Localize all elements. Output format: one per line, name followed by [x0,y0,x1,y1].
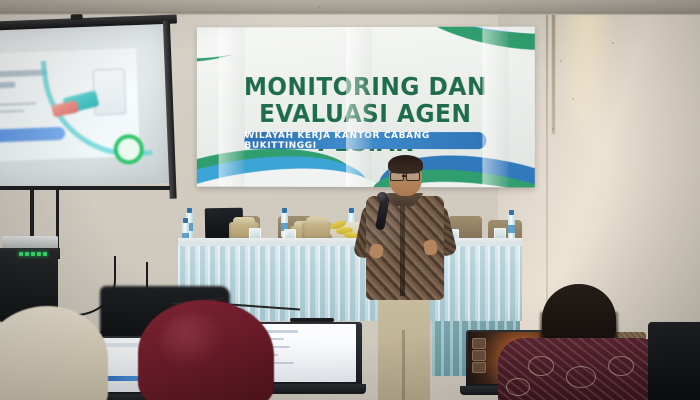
wall-seam [546,14,548,314]
status-led [31,252,35,256]
banner-wave-white [197,27,341,74]
wall-speck [612,42,614,44]
bottle-cap [187,208,192,213]
batik-motif [528,356,554,376]
water-bottle [508,214,515,240]
wall-stain [552,14,555,134]
banner-title-line1: MONITORING DAN [209,72,523,101]
slide-body-line [0,102,36,107]
wall-speck [572,98,574,100]
bottle-label [508,225,515,233]
stand-crossbar [0,186,170,190]
presenter-trouser-seam [402,330,405,400]
banner-subtitle-pill: WILAYAH KERJA KANTOR CABANG BUKITTINGGI [244,132,486,149]
slide-tablet-icon [93,68,127,115]
slide-body-line [0,109,24,114]
batik-motif [506,378,530,396]
microphone-head [377,192,388,202]
bottle-cap [509,210,514,215]
wall-speck [552,128,554,130]
screen-surface [0,23,169,190]
event-banner: MONITORING DAN EVALUASI AGEN PESIAR WILA… [197,27,535,188]
wall-light-glow [556,8,618,158]
projection-screen [0,14,183,193]
batik-motif [608,356,634,376]
bottle-cap [349,208,354,213]
slide-ring-graphic [113,134,144,165]
wall-speck [336,10,338,12]
presenter-shirt-placket [400,200,405,296]
status-led [19,252,23,256]
status-led [43,252,47,256]
screen-thumbnail [472,350,486,361]
screen-thumbnail [472,338,486,349]
wall-speck [318,6,321,9]
status-led [25,252,29,256]
wall-speck [560,60,562,62]
snack-box-lid [233,217,255,226]
slide-heading-line [0,82,15,90]
bottle-cap [183,218,188,223]
eyeglasses-bridge [402,175,406,177]
slide-button [0,127,65,144]
attendee-maroon-hijab-highlight [160,314,224,370]
slide-heading-line [0,69,47,78]
eyeglasses-icon [390,172,404,181]
snack-box-lid [306,217,328,226]
banner-subtitle-text: WILAYAH KERJA KANTOR CABANG BUKITTINGGI [244,130,486,150]
batik-motif [566,366,596,388]
screen-mount-knob [71,14,83,20]
ceiling-edge [0,12,700,15]
screen-thumbnail [472,362,486,373]
bottle-cap [282,208,287,213]
photo-scene: MONITORING DAN EVALUASI AGEN PESIAR WILA… [0,0,700,400]
slide-content [0,48,140,162]
eyeglasses-icon [406,172,420,181]
status-led [37,252,41,256]
foreground-monitor [648,322,700,400]
